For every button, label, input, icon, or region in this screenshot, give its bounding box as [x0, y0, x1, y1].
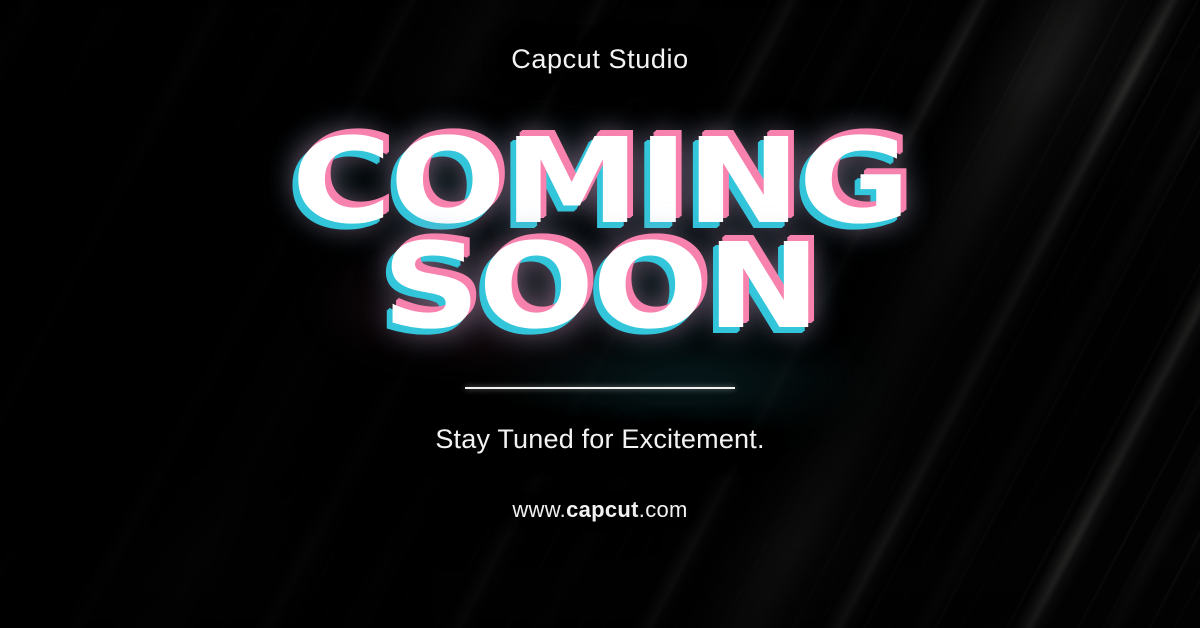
url-suffix: .com	[639, 497, 688, 522]
coming-soon-poster: Capcut Studio COMING SOON Stay Tuned for…	[0, 0, 1200, 628]
headline-line-soon: SOON	[382, 238, 819, 335]
poster-content: Capcut Studio COMING SOON Stay Tuned for…	[0, 0, 1200, 628]
url-prefix: www.	[512, 497, 566, 522]
url-domain: capcut	[566, 497, 639, 522]
website-url[interactable]: www.capcut.com	[512, 497, 687, 523]
brand-title: Capcut Studio	[511, 44, 688, 75]
divider-rule	[465, 387, 735, 389]
headline-block: COMING SOON	[334, 133, 866, 335]
headline-line-coming: COMING	[292, 133, 909, 230]
tagline-text: Stay Tuned for Excitement.	[435, 424, 764, 455]
